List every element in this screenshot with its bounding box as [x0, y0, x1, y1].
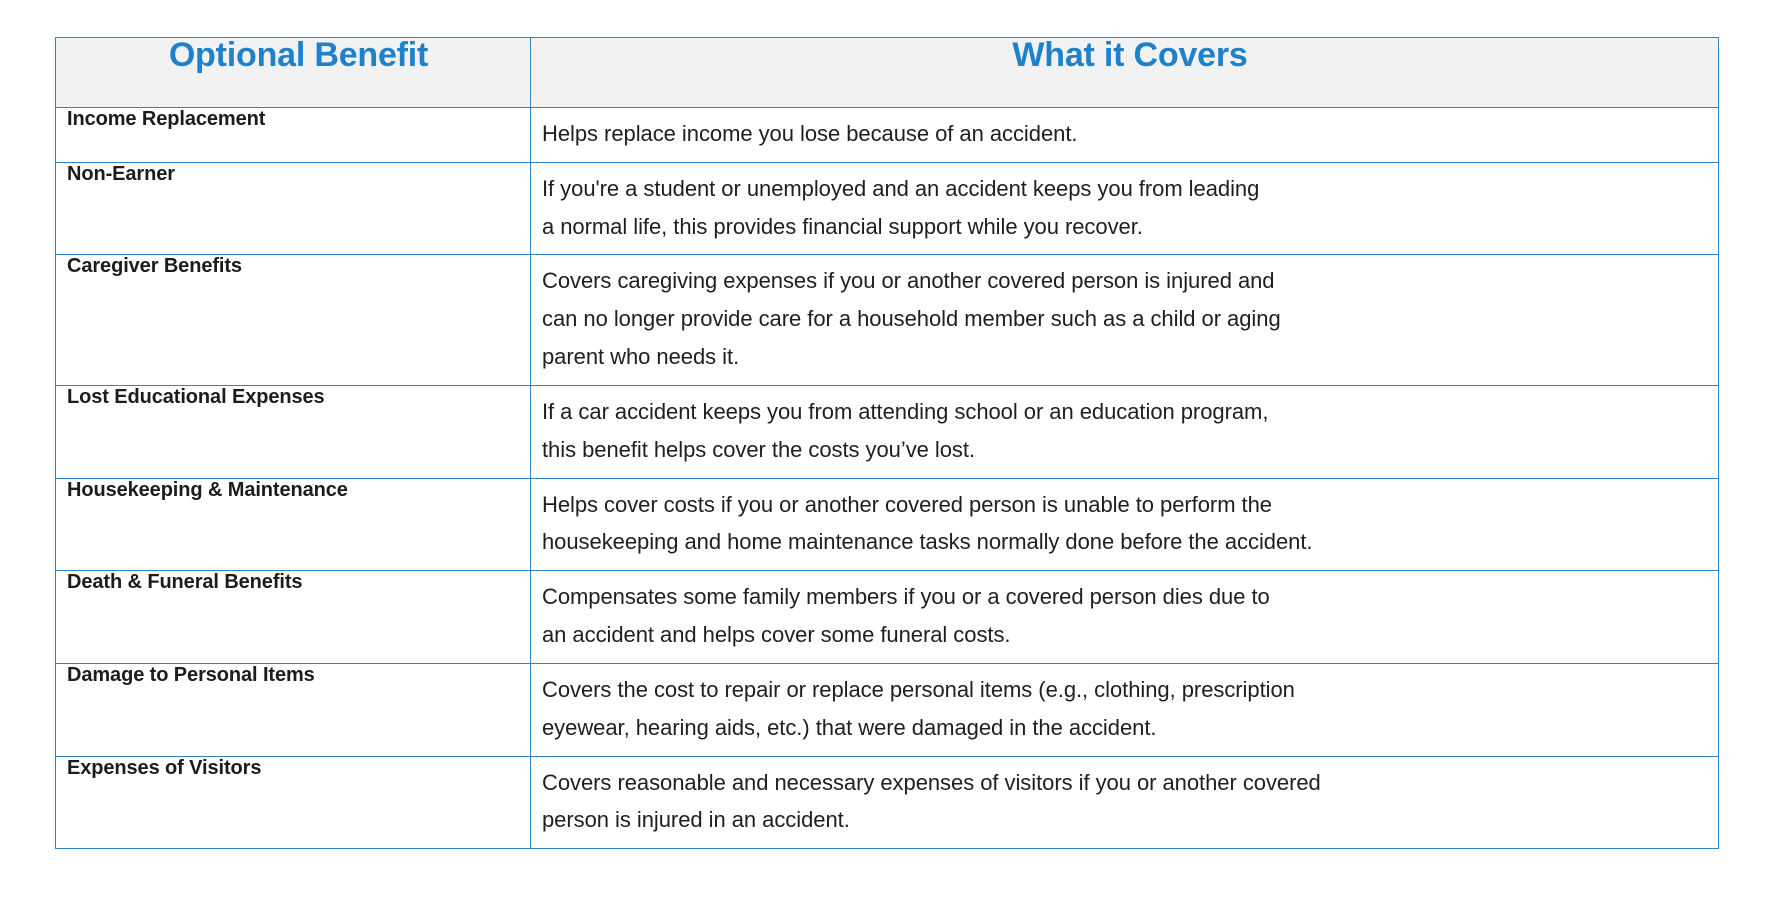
- covers-line: a normal life, this provides financial s…: [542, 208, 1708, 246]
- covers-line: person is injured in an accident.: [542, 801, 1708, 839]
- covers-cell: Helps replace income you lose because of…: [531, 108, 1719, 163]
- table-row: Lost Educational Expenses If a car accid…: [56, 385, 1719, 478]
- covers-description: If you're a student or unemployed and an…: [531, 163, 1718, 255]
- benefit-cell: Housekeeping & Maintenance: [56, 478, 531, 571]
- covers-line: Covers caregiving expenses if you or ano…: [542, 262, 1708, 300]
- covers-cell: Helps cover costs if you or another cove…: [531, 478, 1719, 571]
- covers-line: Helps replace income you lose because of…: [542, 115, 1708, 153]
- page-root: Optional Benefit What it Covers Income R…: [0, 0, 1768, 922]
- covers-cell: Covers caregiving expenses if you or ano…: [531, 255, 1719, 385]
- column-header-optional-benefit: Optional Benefit: [56, 38, 531, 108]
- table-row: Expenses of Visitors Covers reasonable a…: [56, 756, 1719, 849]
- benefit-name: Damage to Personal Items: [56, 664, 530, 697]
- table-body: Income Replacement Helps replace income …: [56, 108, 1719, 849]
- benefit-name: Housekeeping & Maintenance: [56, 479, 530, 512]
- column-header-what-it-covers-label: What it Covers: [531, 38, 1718, 72]
- covers-description: Covers the cost to repair or replace per…: [531, 664, 1718, 756]
- table-row: Caregiver Benefits Covers caregiving exp…: [56, 255, 1719, 385]
- covers-line: eyewear, hearing aids, etc.) that were d…: [542, 709, 1708, 747]
- covers-description: Helps replace income you lose because of…: [531, 108, 1718, 162]
- covers-line: If a car accident keeps you from attendi…: [542, 393, 1708, 431]
- benefit-name: Death & Funeral Benefits: [56, 571, 530, 604]
- covers-line: parent who needs it.: [542, 338, 1708, 376]
- covers-line: this benefit helps cover the costs you’v…: [542, 431, 1708, 469]
- covers-line: Covers reasonable and necessary expenses…: [542, 764, 1708, 802]
- covers-cell: Covers the cost to repair or replace per…: [531, 663, 1719, 756]
- covers-description: Helps cover costs if you or another cove…: [531, 479, 1718, 571]
- covers-line: Covers the cost to repair or replace per…: [542, 671, 1708, 709]
- covers-line: housekeeping and home maintenance tasks …: [542, 523, 1708, 561]
- covers-cell: If a car accident keeps you from attendi…: [531, 385, 1719, 478]
- table-row: Income Replacement Helps replace income …: [56, 108, 1719, 163]
- column-header-optional-benefit-label: Optional Benefit: [56, 38, 530, 72]
- covers-description: Covers reasonable and necessary expenses…: [531, 757, 1718, 849]
- benefit-cell: Damage to Personal Items: [56, 663, 531, 756]
- covers-line: Helps cover costs if you or another cove…: [542, 486, 1708, 524]
- covers-line: can no longer provide care for a househo…: [542, 300, 1708, 338]
- benefit-cell: Expenses of Visitors: [56, 756, 531, 849]
- table-row: Housekeeping & Maintenance Helps cover c…: [56, 478, 1719, 571]
- benefit-name: Expenses of Visitors: [56, 757, 530, 790]
- table-row: Death & Funeral Benefits Compensates som…: [56, 571, 1719, 664]
- table-row: Non-Earner If you're a student or unempl…: [56, 162, 1719, 255]
- covers-line: Compensates some family members if you o…: [542, 578, 1708, 616]
- benefit-cell: Income Replacement: [56, 108, 531, 163]
- covers-cell: Covers reasonable and necessary expenses…: [531, 756, 1719, 849]
- column-header-what-it-covers: What it Covers: [531, 38, 1719, 108]
- covers-line: an accident and helps cover some funeral…: [542, 616, 1708, 654]
- benefit-cell: Non-Earner: [56, 162, 531, 255]
- covers-cell: If you're a student or unemployed and an…: [531, 162, 1719, 255]
- table-row: Damage to Personal Items Covers the cost…: [56, 663, 1719, 756]
- table-header: Optional Benefit What it Covers: [56, 38, 1719, 108]
- benefit-cell: Lost Educational Expenses: [56, 385, 531, 478]
- benefit-cell: Death & Funeral Benefits: [56, 571, 531, 664]
- covers-description: Compensates some family members if you o…: [531, 571, 1718, 663]
- benefit-cell: Caregiver Benefits: [56, 255, 531, 385]
- covers-description: Covers caregiving expenses if you or ano…: [531, 255, 1718, 384]
- header-row: Optional Benefit What it Covers: [56, 38, 1719, 108]
- benefit-name: Caregiver Benefits: [56, 255, 530, 288]
- benefit-name: Lost Educational Expenses: [56, 386, 530, 419]
- covers-description: If a car accident keeps you from attendi…: [531, 386, 1718, 478]
- benefit-name: Non-Earner: [56, 163, 530, 196]
- covers-line: If you're a student or unemployed and an…: [542, 170, 1708, 208]
- optional-benefits-table: Optional Benefit What it Covers Income R…: [55, 37, 1719, 849]
- covers-cell: Compensates some family members if you o…: [531, 571, 1719, 664]
- benefit-name: Income Replacement: [56, 108, 530, 141]
